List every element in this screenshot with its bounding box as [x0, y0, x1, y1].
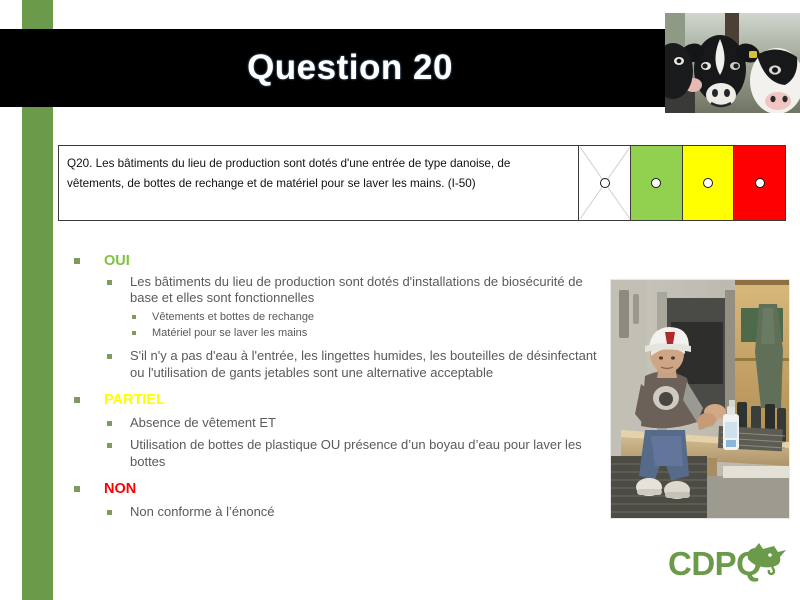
answer-box-partiel[interactable] — [683, 145, 735, 221]
answer-box-na[interactable] — [579, 145, 631, 221]
criteria-point: S'il n'y a pas d'eau à l'entrée, les lin… — [74, 348, 604, 382]
bullet-square-icon — [107, 421, 112, 426]
criteria-point-text: Utilisation de bottes de plastique OU pr… — [130, 437, 582, 469]
bullet-square-icon — [132, 331, 136, 335]
cdpq-logo: CDPQ — [668, 543, 788, 587]
criteria-point: Utilisation de bottes de plastique OU pr… — [74, 437, 604, 471]
criteria-point: Non conforme à l’énoncé — [74, 504, 604, 521]
criteria-point: Les bâtiments du lieu de production sont… — [74, 274, 604, 308]
bullet-square-icon — [74, 397, 80, 403]
bullet-square-icon — [107, 354, 112, 359]
bullet-square-icon — [107, 510, 112, 515]
slide-canvas: Question 20 — [0, 0, 800, 600]
criteria-heading-partiel-label: PARTIEL — [104, 392, 165, 408]
radio-oui[interactable] — [651, 178, 661, 188]
answer-box-non[interactable] — [734, 145, 786, 221]
criteria-point-text: Non conforme à l’énoncé — [130, 504, 275, 519]
criteria-heading-oui-label: OUI — [104, 253, 130, 269]
page-title: Question 20 — [0, 29, 700, 107]
criteria-subpoint: Vêtements et bottes de rechange — [74, 310, 604, 325]
criteria-heading-partiel: PARTIEL — [74, 391, 604, 411]
criteria-subpoint: Matériel pour se laver les mains — [74, 326, 604, 341]
radio-non[interactable] — [755, 178, 765, 188]
criteria-point: Absence de vêtement ET — [74, 415, 604, 432]
criteria-subpoint-text: Vêtements et bottes de rechange — [152, 311, 314, 323]
criteria-point-text: Absence de vêtement ET — [130, 415, 276, 430]
question-table: Q20. Les bâtiments du lieu de production… — [58, 145, 786, 221]
pig-head-icon — [742, 541, 788, 575]
criteria-heading-non-label: NON — [104, 481, 136, 497]
farmer-hand-sanitizing-photo — [610, 279, 790, 519]
criteria-point-text: S'il n'y a pas d'eau à l'entrée, les lin… — [130, 348, 597, 380]
dairy-cows-photo — [665, 13, 800, 113]
bullet-square-icon — [74, 258, 80, 264]
radio-partiel[interactable] — [703, 178, 713, 188]
bullet-square-icon — [132, 315, 136, 319]
radio-na[interactable] — [600, 178, 610, 188]
bullet-square-icon — [107, 280, 112, 285]
criteria-heading-non: NON — [74, 480, 604, 500]
answer-box-oui[interactable] — [631, 145, 683, 221]
bullet-square-icon — [74, 486, 80, 492]
criteria-point-text: Les bâtiments du lieu de production sont… — [130, 274, 583, 306]
question-text: Q20. Les bâtiments du lieu de production… — [58, 145, 579, 221]
answer-criteria-list: OUI Les bâtiments du lieu de production … — [74, 252, 604, 524]
criteria-heading-oui: OUI — [74, 252, 604, 272]
criteria-subpoint-text: Matériel pour se laver les mains — [152, 327, 307, 339]
bullet-square-icon — [107, 443, 112, 448]
